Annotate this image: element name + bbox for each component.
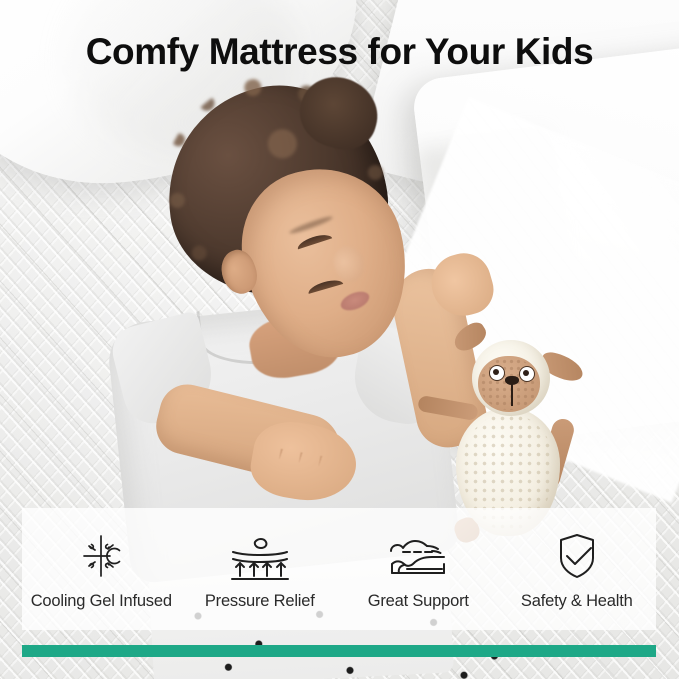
toy-arm-left — [417, 395, 479, 421]
toy-eye-right — [519, 366, 535, 382]
spine-support-mattress-icon — [386, 530, 450, 582]
snowflake-cooling-icon — [78, 530, 124, 582]
feature-item-great-support: Great Support — [339, 508, 498, 630]
feature-item-pressure-relief: Pressure Relief — [181, 508, 340, 630]
feature-label: Great Support — [368, 592, 469, 611]
product-banner: Comfy Mattress for Your Kids — [0, 0, 679, 679]
shield-check-icon — [555, 530, 599, 582]
page-title: Comfy Mattress for Your Kids — [0, 32, 679, 73]
feature-label: Pressure Relief — [205, 592, 315, 611]
feature-panel: Cooling Gel Infused — [22, 508, 656, 630]
pressure-relief-arrows-icon — [229, 530, 291, 582]
accent-bar — [22, 645, 656, 657]
feature-item-safety-health: Safety & Health — [498, 508, 657, 630]
feature-label: Cooling Gel Infused — [31, 592, 172, 611]
feature-item-cooling-gel-infused: Cooling Gel Infused — [22, 508, 181, 630]
feature-label: Safety & Health — [521, 592, 633, 611]
toy-eye-left — [489, 365, 505, 381]
toy-mouth-line — [511, 384, 513, 406]
